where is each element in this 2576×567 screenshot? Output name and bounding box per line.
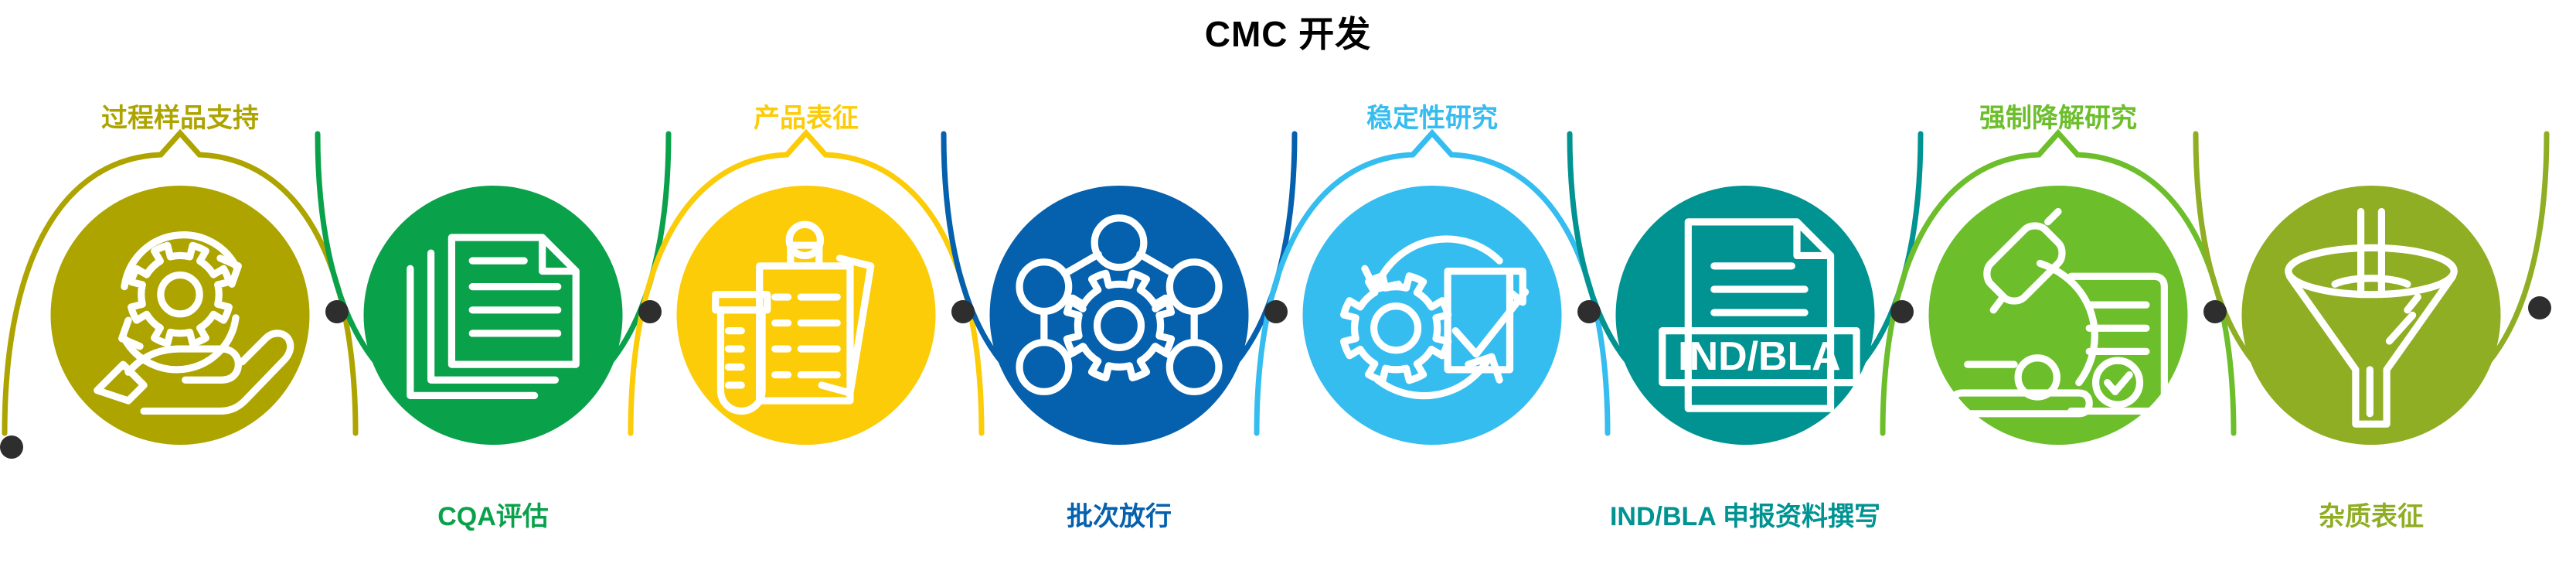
connector-dot-3 xyxy=(951,300,975,323)
process-step-3[interactable]: 产品表征 xyxy=(644,0,968,567)
gear-cycle-checked-document-icon xyxy=(1303,186,1562,445)
step-circle-8[interactable] xyxy=(2242,186,2501,445)
svg-text:IND/BLA: IND/BLA xyxy=(1678,334,1841,379)
chain-end-dot xyxy=(2528,296,2551,319)
connector-dot-5 xyxy=(1577,300,1601,323)
step-circle-7[interactable] xyxy=(1929,186,2188,445)
step-circle-6[interactable]: IND/BLA xyxy=(1616,186,1875,445)
stacked-documents-icon xyxy=(364,186,623,445)
chain-start-dot xyxy=(0,435,23,459)
process-step-8[interactable]: 杂质表征 xyxy=(2209,0,2533,567)
ind-bla-document-icon: IND/BLA xyxy=(1616,186,1875,445)
microscope-checklist-icon xyxy=(1929,186,2188,445)
process-step-6[interactable]: IND/BLAIND/BLA 申报资料撰写 xyxy=(1583,0,1907,567)
process-step-7[interactable]: 强制降解研究 xyxy=(1896,0,2220,567)
connector-dot-7 xyxy=(2203,300,2227,323)
process-step-5[interactable]: 稳定性研究 xyxy=(1270,0,1594,567)
cmc-development-infographic: CMC 开发 过程样品支持CQA评估产品表征批次放行稳定性研究IND/BLAIN… xyxy=(0,0,2576,567)
hand-holding-gear-icon xyxy=(51,186,310,445)
step-circle-1[interactable] xyxy=(51,186,310,445)
connector-dot-1 xyxy=(325,300,349,323)
step-circle-4[interactable] xyxy=(990,186,1249,445)
process-step-1[interactable]: 过程样品支持 xyxy=(18,0,342,567)
funnel-icon xyxy=(2242,186,2501,445)
process-step-4[interactable]: 批次放行 xyxy=(957,0,1281,567)
process-step-2[interactable]: CQA评估 xyxy=(331,0,655,567)
step-label-8: 杂质表征 xyxy=(2147,495,2576,533)
connector-dot-4 xyxy=(1264,300,1288,323)
step-circle-2[interactable] xyxy=(364,186,623,445)
connector-dot-2 xyxy=(638,300,662,323)
network-gear-icon xyxy=(990,186,1249,445)
step-circle-5[interactable] xyxy=(1303,186,1562,445)
connector-dot-6 xyxy=(1890,300,1914,323)
clipboard-test-tube-icon xyxy=(677,186,936,445)
step-circle-3[interactable] xyxy=(677,186,936,445)
